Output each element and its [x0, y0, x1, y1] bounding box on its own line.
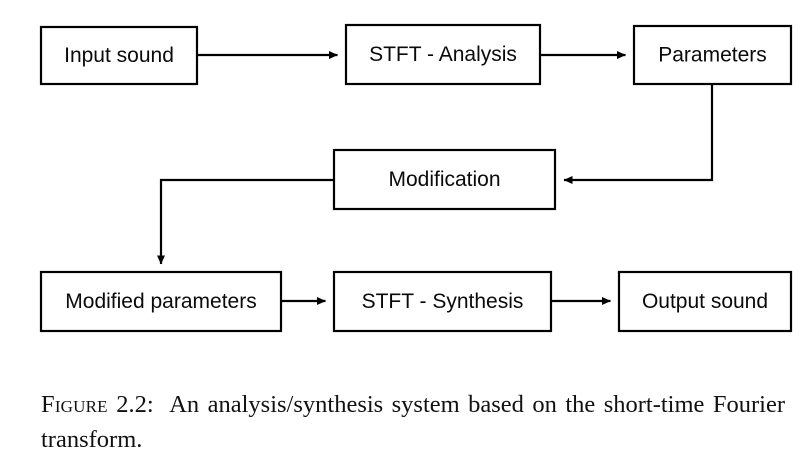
figure-caption-label: Figure: [41, 391, 108, 418]
node-label-modified-parameters: Modified parameters: [65, 290, 256, 313]
node-label-stft-synthesis: STFT - Synthesis: [362, 290, 524, 313]
edge-modification-to-modified-parameters: [161, 180, 334, 264]
node-stft-analysis[interactable]: STFT - Analysis: [346, 25, 540, 84]
figure-caption: Figure 2.2: An analysis/synthesis system…: [41, 388, 785, 458]
node-label-output-sound: Output sound: [642, 290, 768, 313]
node-stft-synthesis[interactable]: STFT - Synthesis: [334, 272, 551, 331]
node-modification[interactable]: Modification: [334, 150, 555, 209]
node-label-input-sound: Input sound: [64, 44, 174, 67]
figure-container: Input sound STFT - Analysis Parameters M…: [0, 0, 811, 473]
edge-parameters-to-modification: [564, 84, 712, 180]
node-input-sound[interactable]: Input sound: [41, 27, 197, 84]
node-modified-parameters[interactable]: Modified parameters: [41, 272, 281, 331]
node-label-parameters: Parameters: [658, 44, 767, 67]
figure-caption-number: 2.2:: [116, 391, 153, 418]
node-output-sound[interactable]: Output sound: [619, 272, 791, 331]
node-label-modification: Modification: [388, 168, 500, 191]
flow-diagram: Input sound STFT - Analysis Parameters M…: [0, 0, 811, 375]
node-label-stft-analysis: STFT - Analysis: [369, 43, 517, 66]
node-parameters[interactable]: Parameters: [634, 26, 791, 84]
